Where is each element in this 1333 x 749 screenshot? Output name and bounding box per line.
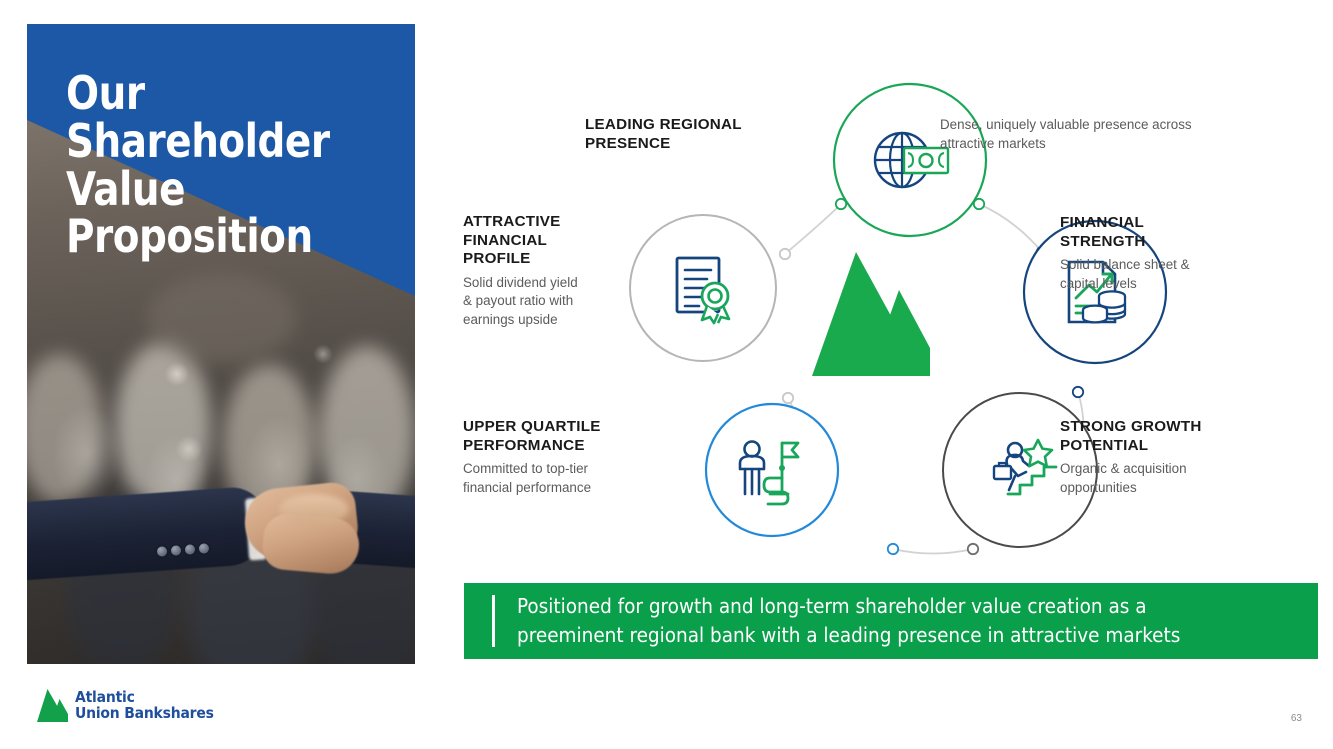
label-strong-growth-potential: STRONG GROWTH POTENTIAL Organic & acquis… [1060,418,1275,497]
label-financial-strength: FINANCIAL STRENGTH Solid balance sheet &… [1060,214,1260,293]
node-circle-attractive-financial-profile [630,215,776,361]
page-number: 63 [1291,713,1302,724]
label-heading: ATTRACTIVE FINANCIAL PROFILE [463,213,623,269]
knuckles [279,494,349,524]
shareholder-value-diagram: LEADING REGIONAL PRESENCE Dense, uniquel… [455,80,1325,560]
logo-wordmark: Atlantic Union Bankshares [75,690,214,722]
label-body: Solid dividend yield & payout ratio with… [463,274,623,330]
label-heading: FINANCIAL STRENGTH [1060,214,1260,251]
label-body: Committed to top-tier financial performa… [463,460,658,497]
title-panel: Our Shareholder Value Proposition [27,24,415,664]
summary-banner: Positioned for growth and long-term shar… [464,583,1318,659]
center-logo-mark [812,252,930,376]
banner-accent-bar [492,595,495,647]
label-attractive-financial-profile: ATTRACTIVE FINANCIAL PROFILE Solid divid… [463,213,623,329]
label-leading-regional-presence-body: Dense, uniquely valuable presence across… [940,116,1260,153]
label-body: Dense, uniquely valuable presence across… [940,116,1260,153]
label-upper-quartile-performance: UPPER QUARTILE PERFORMANCE Committed to … [463,418,658,497]
company-logo: Atlantic Union Bankshares [37,689,214,722]
node-circle-leading-regional-presence [834,84,986,236]
label-heading: STRONG GROWTH POTENTIAL [1060,418,1275,455]
label-heading: LEADING REGIONAL PRESENCE [585,116,800,153]
label-heading: UPPER QUARTILE PERFORMANCE [463,418,658,455]
node-circle-upper-quartile-performance [706,404,838,536]
atlantic-union-mark-icon [37,689,68,722]
label-body: Solid balance sheet & capital levels [1060,256,1260,293]
logo-line-2: Union Bankshares [75,706,214,722]
label-body: Organic & acquisition opportunities [1060,460,1275,497]
banner-text: Positioned for growth and long-term shar… [517,592,1180,650]
label-leading-regional-presence: LEADING REGIONAL PRESENCE [585,116,800,153]
page-title: Our Shareholder Value Proposition [66,70,376,261]
